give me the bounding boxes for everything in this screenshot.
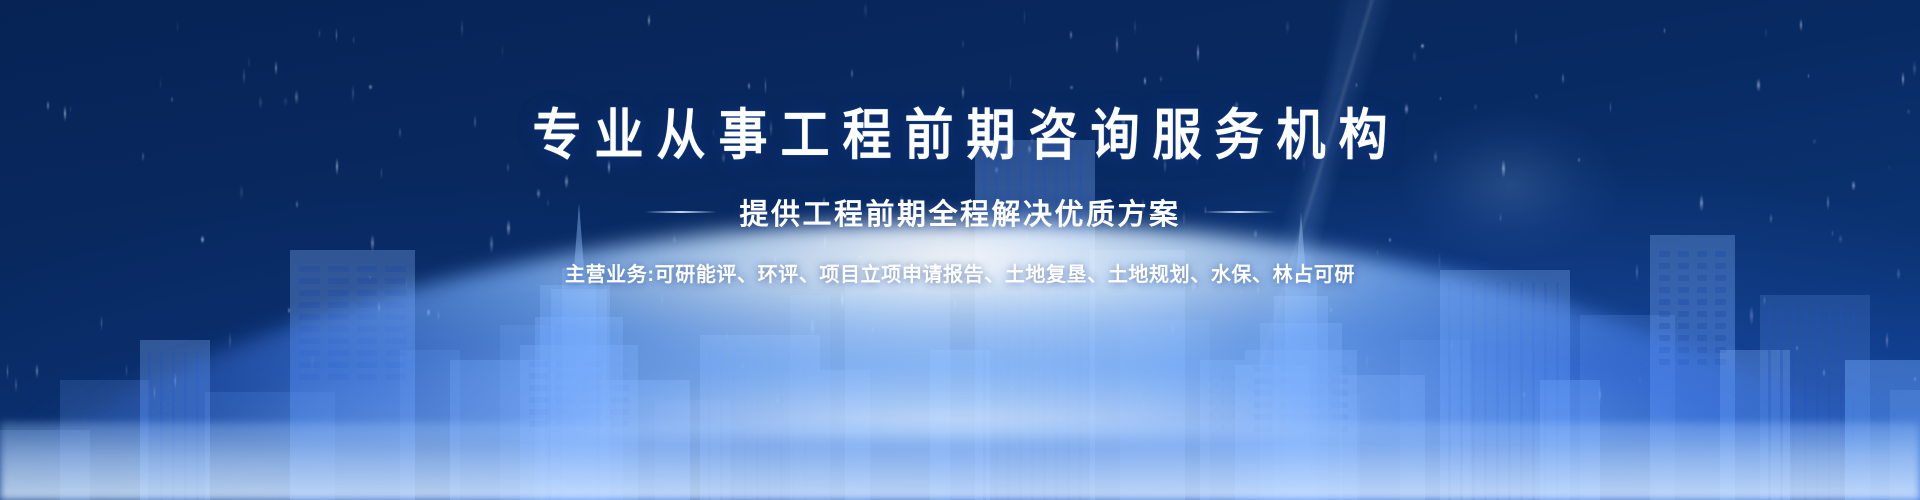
banner-tagline: 主营业务:可研能评、环评、项目立项申请报告、土地复垦、土地规划、水保、林占可研 xyxy=(565,258,1355,287)
banner-subtitle-row: 提供工程前期全程解决优质方案 xyxy=(645,191,1274,233)
banner-copy: 专业从事工程前期咨询服务机构 提供工程前期全程解决优质方案 主营业务:可研能评、… xyxy=(0,0,1920,500)
banner-headline: 专业从事工程前期咨询服务机构 xyxy=(519,109,1400,164)
banner-subtitle: 提供工程前期全程解决优质方案 xyxy=(739,191,1180,233)
hero-banner: 专业从事工程前期咨询服务机构 提供工程前期全程解决优质方案 主营业务:可研能评、… xyxy=(0,0,1920,500)
decorative-dash-right-icon xyxy=(1203,211,1275,213)
decorative-dash-left-icon xyxy=(645,211,717,213)
